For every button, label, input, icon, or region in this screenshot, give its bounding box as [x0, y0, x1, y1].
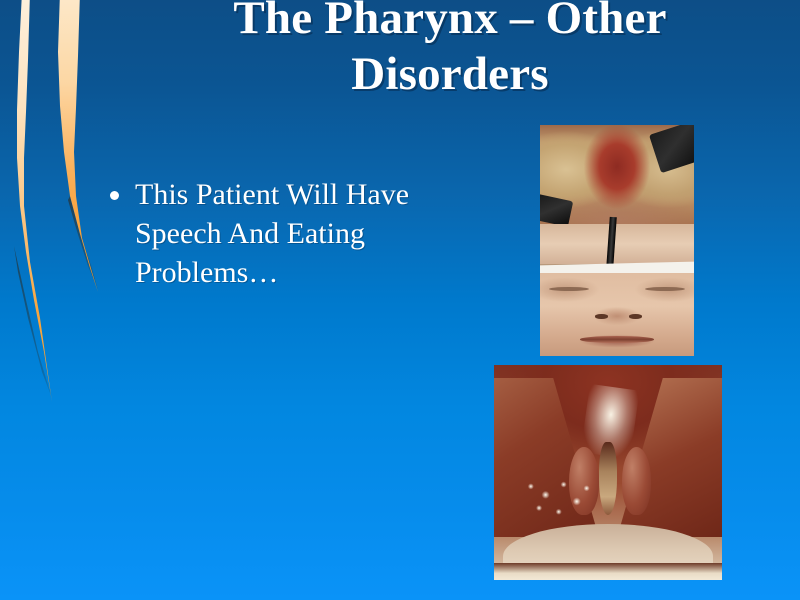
ribbon-right: [58, 0, 98, 292]
bullet-text: This Patient Will Have Speech And Eating…: [135, 175, 484, 292]
nostril-right: [629, 314, 641, 318]
lower-lip: [494, 563, 722, 580]
slide-title-line-1: The Pharynx – Other: [120, 0, 780, 46]
exudate-patches: [521, 477, 603, 524]
photo-top-content: [540, 125, 694, 356]
slide-body: This Patient Will Have Speech And Eating…: [104, 175, 484, 292]
bullet-dot-icon: [110, 191, 119, 200]
chin-area: [540, 224, 694, 263]
list-item: This Patient Will Have Speech And Eating…: [104, 175, 484, 292]
photo-bottom-content: [494, 365, 722, 580]
nostril-left: [595, 314, 607, 318]
tonsil-right: [622, 447, 652, 516]
slide-title-line-2: Disorders: [120, 46, 780, 102]
presentation-slide: The Pharynx – Other Disorders This Patie…: [0, 0, 800, 600]
eye-left: [549, 287, 589, 291]
intraoral-surgical-view: [540, 125, 694, 224]
eye-right: [645, 287, 685, 291]
mouth: [580, 336, 654, 343]
photo-oropharynx-bifid-uvula: [494, 365, 722, 580]
ribbon-left-shadow: [14, 246, 52, 398]
slide-title: The Pharynx – Other Disorders: [120, 0, 780, 102]
infant-face-view: [540, 273, 694, 356]
photo-cleft-palate-repair: [540, 125, 694, 356]
ribbon-left: [17, 0, 52, 402]
ribbon-right-shadow: [68, 196, 98, 290]
